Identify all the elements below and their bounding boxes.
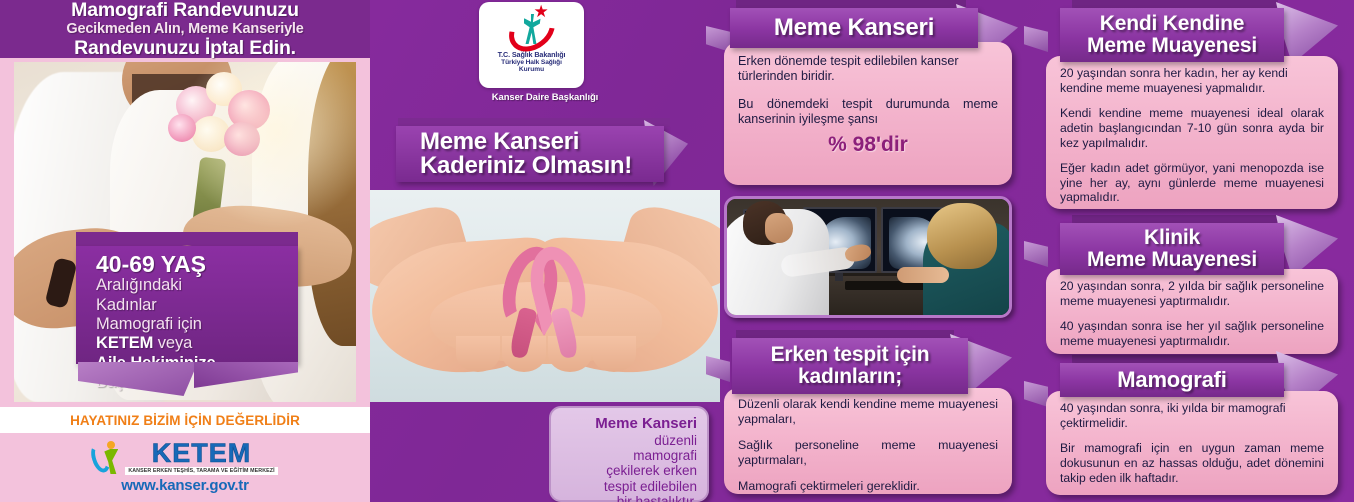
hands-ribbon-photo xyxy=(370,190,720,402)
card-title-klinik-line-2: Meme Muayenesi xyxy=(1087,249,1257,271)
left-panel: Mamografi Randevunuzu Gecikmeden Alın, M… xyxy=(0,0,370,502)
ribbon-arrow-fold xyxy=(1276,2,1338,64)
doctor-patient-mammogram-photo xyxy=(724,196,1012,318)
column-three: Meme Kanseri Erken dönemde tespit edileb… xyxy=(720,0,1035,502)
age-banner-line-2: Aralığındaki xyxy=(96,276,298,295)
headline-line-2: Gecikmeden Alın, Meme Kanseriyle xyxy=(66,20,303,38)
kendi-kendine-paragraph-2: Kendi kendine meme muayenesi ideal olara… xyxy=(1060,106,1324,150)
main-slogan-line-1: Meme Kanseri xyxy=(420,130,664,154)
ketem-logo: KETEM KANSER ERKEN TEŞHİS, TARAMA VE EĞİ… xyxy=(92,441,277,475)
ministry-line-1: T.C. Sağlık Bakanlığı xyxy=(498,50,566,59)
age-range-label: 40-69 YAŞ xyxy=(96,252,298,276)
age-banner-line-5-rest: veya xyxy=(153,334,192,352)
ministry-of-health-logo: ★ T.C. Sağlık Bakanlığı Türkiye Halk Sağ… xyxy=(479,2,584,88)
crescent-star-figure-icon: ★ xyxy=(504,5,560,49)
ketem-tagline: KANSER ERKEN TEŞHİS, TARAMA VE EĞİTİM ME… xyxy=(125,467,277,475)
age-banner-line-4: Mamografi için xyxy=(96,315,298,334)
pink-awareness-ribbon-icon xyxy=(498,246,594,358)
kendi-kendine-paragraph-1: 20 yaşından sonra her kadın, her ay kend… xyxy=(1060,66,1324,95)
left-headline: Mamografi Randevunuzu Gecikmeden Alın, M… xyxy=(0,0,370,58)
note-line-2: mamografi xyxy=(561,448,697,463)
ketem-wordmark: KETEM xyxy=(152,441,252,466)
note-line-1: düzenli xyxy=(561,433,697,448)
department-label: Kanser Daire Başkanlığı xyxy=(370,92,720,103)
note-line-3: çekilerek erken xyxy=(561,463,697,478)
note-line-5: bir hastalıktır. xyxy=(561,494,697,502)
erken-tespit-paragraph-2: Sağlık personeline meme muayenesi yaptır… xyxy=(738,438,998,468)
breast-cancer-note-box: Meme Kanseri düzenli mamografi çekilerek… xyxy=(549,406,709,502)
kendi-kendine-paragraph-3: Eğer kadın adet görmüyor, yani menopozda… xyxy=(1060,161,1324,205)
survival-rate-highlight: % 98'dir xyxy=(738,133,998,157)
person-figure-icon xyxy=(92,441,122,475)
note-title: Meme Kanseri xyxy=(561,416,697,433)
headline-line-3: Randevunuzu İptal Edin. xyxy=(74,38,296,58)
erken-tespit-paragraph-1: Düzenli olarak kendi kendine meme muayen… xyxy=(738,397,998,427)
age-banner-line-3: Kadınlar xyxy=(96,296,298,315)
card-title-klinik-line-1: Klinik xyxy=(1144,227,1200,249)
main-slogan-banner: Meme Kanseri Kaderiniz Olmasın! xyxy=(396,118,686,190)
meme-kanseri-paragraph-2: Bu dönemdeki tespit durumunda meme kanse… xyxy=(738,97,998,127)
card-title-kendi-kendine-line-1: Kendi Kendine xyxy=(1100,13,1244,35)
ministry-line-3: Kurumu xyxy=(519,66,544,73)
slogan-text: HAYATINIZ BİZİM İÇİN DEĞERLİDİR xyxy=(70,413,300,428)
erken-tespit-paragraph-3: Mamografi çektirmeleri gereklidir. xyxy=(738,479,998,494)
age-banner: 40-69 YAŞ Aralığındaki Kadınlar Mamograf… xyxy=(76,232,298,392)
slogan-bar: HAYATINIZ BİZİM İÇİN DEĞERLİDİR xyxy=(0,407,370,433)
ministry-line-2: Türkiye Halk Sağlığı xyxy=(501,59,562,66)
mamografi-paragraph-2: Bir mamografi için en uygun zaman meme d… xyxy=(1060,441,1324,485)
card-title-erken-tespit-line-2: kadınların; xyxy=(798,366,902,388)
main-slogan-line-2: Kaderiniz Olmasın! xyxy=(420,154,664,178)
column-four: Kendi Kendine Meme Muayenesi 20 yaşından… xyxy=(1038,0,1354,502)
note-line-4: tespit edilebilen xyxy=(561,479,697,494)
card-title-meme-kanseri: Meme Kanseri xyxy=(774,15,934,40)
card-title-kendi-kendine-line-2: Meme Muayenesi xyxy=(1087,35,1257,57)
headline-line-1: Mamografi Randevunuzu xyxy=(71,0,299,20)
card-title-mamografi: Mamografi xyxy=(1117,368,1226,391)
ribbon-arrow-fold xyxy=(1276,215,1338,277)
ketem-logo-area: KETEM KANSER ERKEN TEŞHİS, TARAMA VE EĞİ… xyxy=(14,433,356,502)
klinik-paragraph-2: 40 yaşından sonra ise her yıl sağlık per… xyxy=(1060,319,1324,348)
mamografi-paragraph-1: 40 yaşından sonra, iki yılda bir mamogra… xyxy=(1060,401,1324,430)
website-url[interactable]: www.kanser.gov.tr xyxy=(121,477,248,494)
klinik-paragraph-1: 20 yaşından sonra, 2 yılda bir sağlık pe… xyxy=(1060,279,1324,308)
meme-kanseri-paragraph-1: Erken dönemde tespit edilebilen kanser t… xyxy=(738,54,998,84)
infographic-poster: Mamografi Randevunuzu Gecikmeden Alın, M… xyxy=(0,0,1354,502)
card-title-erken-tespit-line-1: Erken tespit için xyxy=(771,344,930,366)
ketem-keyword: KETEM xyxy=(96,334,153,352)
